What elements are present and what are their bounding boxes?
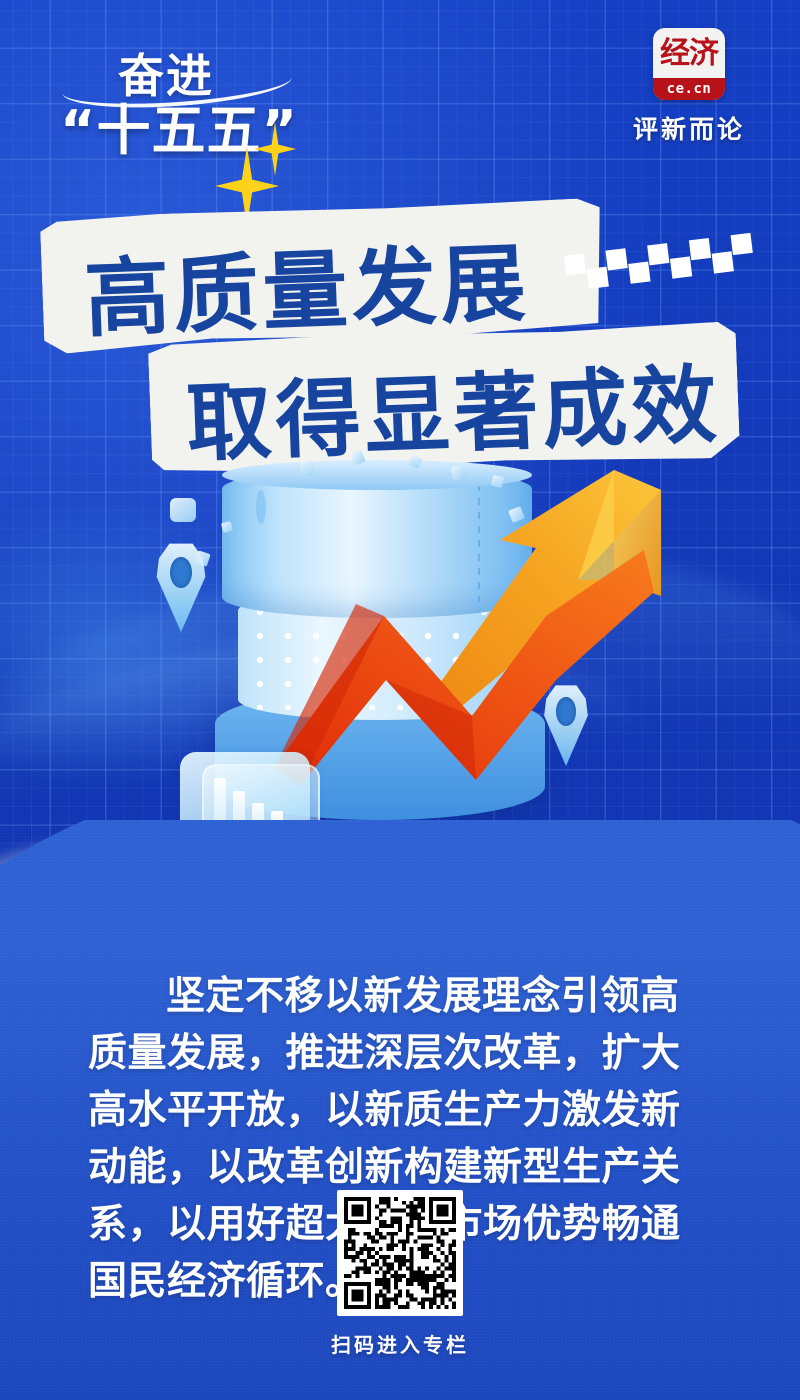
site-logo[interactable]: 经济 ce.cn 评新而论 (614, 28, 764, 150)
floating-cube-9 (170, 498, 196, 522)
qr-code-canvas (344, 1197, 456, 1309)
headline-line-1: 高质量发展 (82, 214, 531, 353)
logo-caption: 评新而论 (614, 110, 764, 146)
qr-caption: 扫码进入专栏 (0, 1329, 800, 1358)
poster-header: 奋进 “十五五” 经济 ce.cn 评新而论 (0, 0, 800, 170)
logo-calligraphy: 经济 (653, 32, 725, 76)
logo-domain: ce.cn (653, 78, 725, 100)
poster-root: 奋进 “十五五” 经济 ce.cn 评新而论 高质量发展 取得显著成效 (0, 0, 800, 1400)
qr-code[interactable] (337, 1190, 463, 1316)
location-pin-left-icon (152, 540, 210, 632)
logo-badge: 经济 ce.cn (653, 28, 725, 100)
cylinder-highlight (256, 490, 266, 524)
campaign-brand: 奋进 “十五五” (56, 34, 356, 154)
floating-cube-3 (299, 461, 316, 478)
qr-section: 扫码进入专栏 (0, 1190, 800, 1358)
sparkle-star-small-icon (254, 122, 296, 176)
bottom-panel: 坚定不移以新发展理念引领高质量发展，推进深层次改革，扩大高水平开放，以新质生产力… (0, 820, 800, 1400)
